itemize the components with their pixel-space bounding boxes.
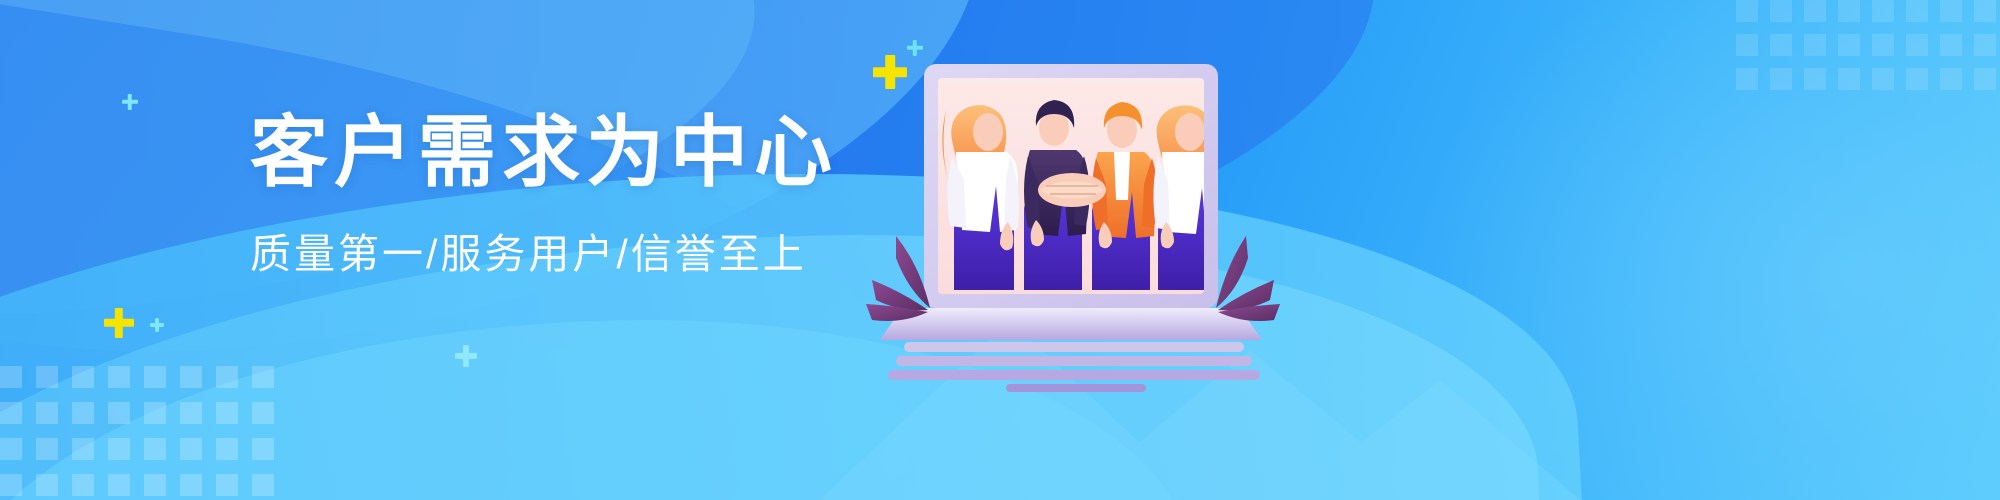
dot-cell (0, 438, 22, 460)
plus-yellow-large-lower-icon (104, 308, 134, 338)
dot-cell (216, 366, 238, 388)
dot-cell (252, 438, 274, 460)
dot-cell (1770, 0, 1792, 22)
laptop-keyboard-row-3 (888, 370, 1260, 380)
dot-cell (1906, 34, 1928, 56)
dot-cell (1838, 34, 1860, 56)
dot-cell (144, 474, 166, 496)
dot-cell (216, 402, 238, 424)
dot-cell (1872, 68, 1894, 90)
laptop-team-illustration (890, 40, 1310, 380)
promo-banner: 客户需求为中心 质量第一/服务用户/信誉至上 (0, 0, 2000, 500)
dot-cell (252, 366, 274, 388)
dot-cell (1804, 34, 1826, 56)
dot-cell (180, 438, 202, 460)
plus-cyan-small-lower-icon (150, 318, 164, 332)
dot-cell (1770, 68, 1792, 90)
dot-cell (1804, 68, 1826, 90)
dot-cell (144, 438, 166, 460)
plus-cyan-small-left-icon (122, 94, 138, 110)
dot-cell (144, 366, 166, 388)
dot-cell (216, 474, 238, 496)
dot-cell (108, 474, 130, 496)
laptop-trackpad (1006, 384, 1146, 392)
dot-cell (0, 366, 22, 388)
dot-cell (1736, 68, 1758, 90)
dot-cell (1736, 0, 1758, 22)
bg-glow-right (1400, 0, 2000, 500)
dot-cell (0, 474, 22, 496)
dot-grid-bottom-left (0, 366, 278, 500)
dot-cell (1838, 68, 1860, 90)
dot-cell (36, 366, 58, 388)
dot-cell (252, 402, 274, 424)
dot-cell (36, 402, 58, 424)
dot-cell (1736, 34, 1758, 56)
dot-cell (1974, 0, 1996, 22)
dot-cell (252, 474, 274, 496)
dot-cell (72, 438, 94, 460)
dot-cell (1838, 0, 1860, 22)
dot-cell (1940, 34, 1962, 56)
dot-cell (1974, 68, 1996, 90)
dot-cell (180, 402, 202, 424)
laptop-keyboard-row-1 (904, 342, 1244, 352)
copy-block: 客户需求为中心 质量第一/服务用户/信誉至上 (250, 110, 870, 280)
dot-cell (0, 402, 22, 424)
dot-cell (1872, 34, 1894, 56)
dot-cell (1872, 0, 1894, 22)
dot-cell (1940, 68, 1962, 90)
dot-cell (72, 474, 94, 496)
dot-cell (108, 366, 130, 388)
dot-cell (36, 438, 58, 460)
laptop-base (880, 308, 1262, 340)
plus-cyan-medium-bottom-icon (455, 345, 477, 367)
dot-cell (108, 402, 130, 424)
page-title: 客户需求为中心 (250, 110, 870, 194)
laptop-keyboard-row-2 (896, 356, 1252, 366)
dot-cell (36, 474, 58, 496)
dot-cell (1974, 34, 1996, 56)
leaf-accent-right (1216, 236, 1280, 321)
dot-cell (1770, 34, 1792, 56)
dot-cell (180, 366, 202, 388)
dot-cell (180, 474, 202, 496)
page-subtitle: 质量第一/服务用户/信誉至上 (250, 220, 870, 280)
dot-grid-top-right (1736, 0, 2000, 94)
dot-cell (216, 438, 238, 460)
dot-cell (72, 402, 94, 424)
dot-cell (108, 438, 130, 460)
joined-hands (1038, 173, 1106, 207)
dot-cell (1906, 68, 1928, 90)
dot-cell (144, 402, 166, 424)
dot-cell (72, 366, 94, 388)
leaf-accent-left (866, 236, 930, 321)
dot-cell (1940, 0, 1962, 22)
dot-cell (1804, 0, 1826, 22)
dot-cell (1906, 0, 1928, 22)
